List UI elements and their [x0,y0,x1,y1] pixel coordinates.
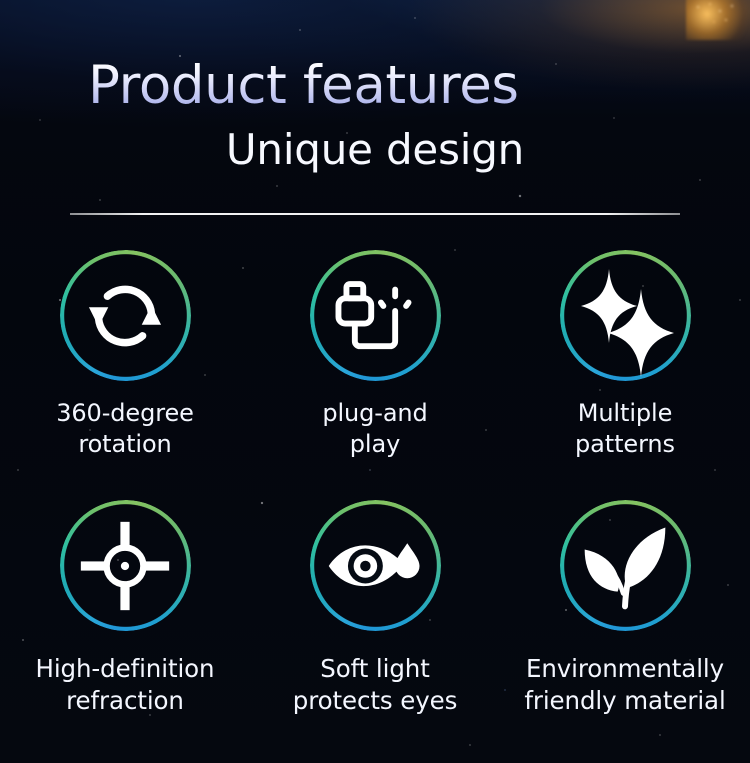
feature-icon-wrap [60,250,191,381]
feature-icon-wrap [560,250,691,381]
feature-item-multiple-patterns: Multiple patterns [500,250,750,465]
city-lights-glow [686,0,750,40]
page-subtitle: Unique design [0,125,750,174]
feature-icon-wrap [560,500,691,631]
feature-caption: Multiple patterns [575,398,675,460]
page-title: Product features [88,58,519,114]
feature-item-plug-and-play: plug-and play [250,250,500,465]
features-grid: 360-degree rotation [0,250,750,715]
feature-item-eco-material: Environmentally friendly material [500,500,750,715]
header-divider [70,213,680,215]
feature-caption: Environmentally friendly material [524,653,725,717]
feature-caption: Soft light protects eyes [293,653,458,717]
crosshair-target-icon [60,500,191,631]
feature-item-hd-refraction: High-definition refraction [0,500,250,715]
feature-caption: plug-and play [322,398,427,460]
feature-caption: High-definition refraction [36,653,215,717]
feature-item-rotation: 360-degree rotation [0,250,250,465]
feature-icon-wrap [60,500,191,631]
feature-icon-wrap [310,500,441,631]
feature-item-soft-light: Soft light protects eyes [250,500,500,715]
eye-teardrop-icon [310,500,441,631]
product-features-page: Product features Unique design 360-degre… [0,0,750,763]
rotate-360-icon [60,250,191,381]
feature-caption: 360-degree rotation [56,398,194,460]
feature-icon-wrap [310,250,441,381]
sparkles-icon [560,250,691,381]
leaves-eco-icon [560,500,691,631]
usb-plug-icon [310,250,441,381]
